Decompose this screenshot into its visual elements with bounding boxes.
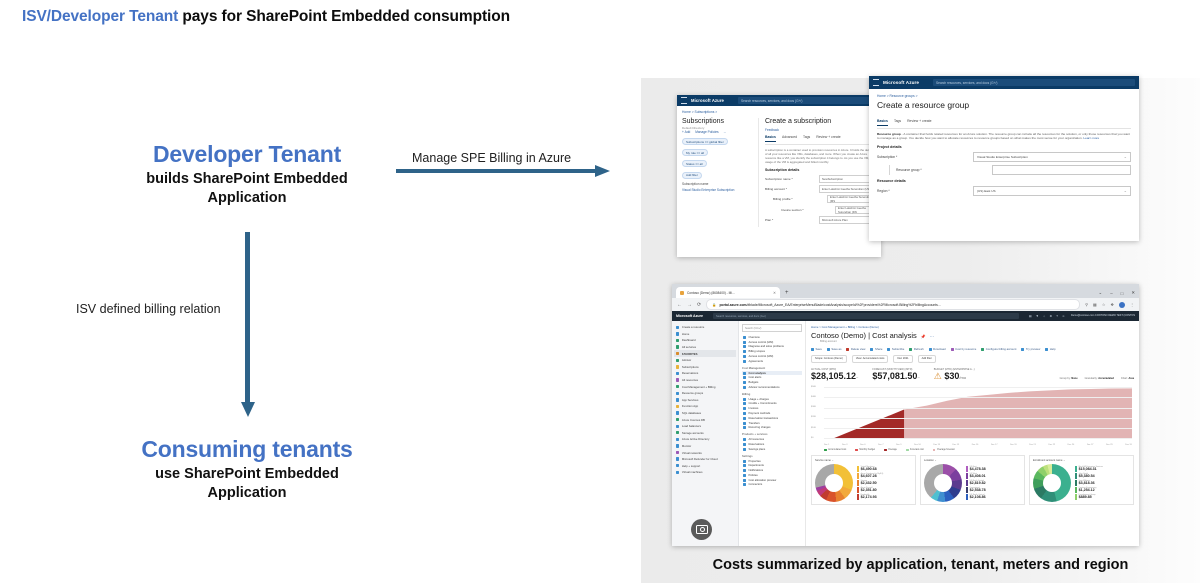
breadcrumb[interactable]: Home > Cost Management + Billing > Conto…	[811, 325, 1134, 329]
view-control[interactable]: Chart: Area	[1121, 377, 1134, 380]
node-developer-subtext-line2: Application	[47, 189, 447, 208]
field-label: Invoice section *	[781, 208, 835, 212]
menu-item-label: Invoices	[749, 407, 759, 410]
blade-body: Home > Subscriptions > Subscriptions Def…	[677, 106, 881, 231]
filter-chip[interactable]: Dec 2021	[893, 355, 912, 363]
donut-legend-item[interactable]: US West$3,408.01	[966, 473, 1021, 479]
legend-text: Azure Firewall$2,351.80	[861, 487, 877, 493]
tab-review-create[interactable]: Review + create	[907, 119, 931, 126]
nav-item-icon	[676, 444, 679, 447]
legend-text: Contoso Engineering$1,254.12	[1079, 487, 1097, 493]
menu-group-label: Billing	[742, 393, 802, 396]
kpi-amount: $30	[944, 371, 959, 381]
nav-item-label: Microsoft Defender for Cloud	[682, 457, 718, 461]
menu-item[interactable]: Connectors	[742, 483, 802, 488]
legend-swatch	[1075, 466, 1077, 472]
nav-item-icon	[676, 385, 679, 388]
favicon-icon	[680, 291, 684, 295]
donut-legend-item[interactable]: Virtual Machines$6,490.68	[857, 466, 912, 472]
nav-item-label: Help + support	[682, 464, 700, 468]
legend-swatch	[884, 449, 887, 452]
detail-title: Create a subscription	[765, 118, 876, 125]
account-info[interactable]: Demo@contoso.com CONTOSO DEMO TEST (CONT…	[1071, 314, 1135, 317]
field-label: Plan *	[765, 218, 819, 222]
legend-amount: $6,490.68	[861, 468, 877, 472]
azure-brand: Microsoft Azure	[676, 314, 703, 318]
donut-legend: Mark Hill Enterprise Services$15,084.31J…	[1075, 466, 1130, 500]
nav-item-icon	[676, 398, 679, 401]
search-placeholder: Search resources, services, and docs (G+…	[936, 81, 997, 85]
command-label: Delete view	[851, 347, 865, 351]
command-button[interactable]: Share	[870, 347, 882, 351]
field-resource-group: Resource group *	[889, 165, 1131, 175]
search-input[interactable]: Search resources, services, and docs (G+…	[933, 79, 1135, 86]
nav-item-icon	[676, 457, 679, 460]
legend-item[interactable]: Monthly budget	[855, 449, 875, 452]
command-button[interactable]: Save as	[827, 347, 842, 351]
portal-main: Create a resourceHomeDashboardAll servic…	[672, 321, 1139, 546]
blade-title: Contoso (Demo) | Cost analysis	[811, 331, 917, 340]
legend-amount: $889.85	[1079, 496, 1096, 500]
hamburger-menu-icon[interactable]	[873, 79, 879, 86]
y-tick-label: $10K	[811, 427, 816, 429]
tab-basics[interactable]: Basics	[765, 135, 776, 142]
chart-svg	[824, 386, 1132, 438]
nav-item-icon	[676, 332, 679, 335]
kpi-value: $57,081.50~	[872, 371, 919, 381]
kpi-row: ACTUAL COST (MTD) $28,105.12~ FORECAST (…	[811, 368, 1134, 382]
maximize-icon[interactable]: □	[1121, 291, 1124, 296]
legend-amount: $4,607.28	[861, 475, 884, 479]
gridline	[824, 397, 1132, 398]
azure-top-bar: Microsoft Azure Search resources, servic…	[869, 76, 1139, 89]
nav-item[interactable]: Subscriptions	[674, 364, 736, 371]
nav-item-icon	[676, 464, 679, 467]
more-icon[interactable]: ⋯	[930, 334, 934, 339]
menu-item-icon	[743, 469, 746, 472]
menu-item-icon	[743, 345, 746, 348]
menu-item-label: Overview	[749, 336, 760, 339]
browser-tab[interactable]: Contoso (Demo) (8608400) - Mi... ✕	[676, 287, 780, 298]
legend-swatch	[966, 473, 968, 479]
kpi-budget: BUDGET (MTD) (ENTERPRISE A...) ⚠ $30/mo	[934, 368, 975, 382]
nav-item[interactable]: Create a resource	[674, 324, 736, 331]
notifications-icon[interactable]: ☼	[1043, 314, 1046, 318]
manage-policies-button[interactable]: Manage Policies	[695, 130, 718, 134]
tab-tags[interactable]: Tags	[803, 135, 810, 142]
nav-item[interactable]: Dashboard	[674, 337, 736, 344]
nav-item[interactable]: Azure Active Directory	[674, 436, 736, 443]
donut-title[interactable]: Service name ⌄	[815, 459, 912, 462]
nav-item[interactable]: Function App	[674, 403, 736, 410]
menu-item-icon	[743, 360, 746, 363]
legend-swatch	[857, 480, 859, 486]
accumulated-cost-area-chart: $50K$40K$30K$20K$10K$0 Dec 1Dec 3Dec 6De…	[811, 386, 1134, 448]
legend-item[interactable]: Forecast cost	[906, 449, 924, 452]
nav-item[interactable]: All services	[674, 344, 736, 351]
extensions-icon[interactable]: ❖	[1110, 302, 1114, 307]
nav-item[interactable]: Home	[674, 331, 736, 338]
donut-legend-item[interactable]: Bandwidth$2,174.93	[857, 494, 912, 500]
browser-omnibox-bar: ← → ⟳ 🔒 portal.azure.com/#blade/Microsof…	[672, 298, 1139, 311]
nav-item[interactable]: Azure Cosmos DB	[674, 416, 736, 423]
filter-chip[interactable]: View: Accumulated costs	[852, 355, 889, 363]
nav-item-icon	[676, 411, 679, 414]
command-label: Help	[1050, 347, 1056, 351]
legend-amount: $2,351.80	[861, 489, 877, 493]
tab-tags[interactable]: Tags	[894, 119, 901, 126]
nav-item-label: App Services	[682, 398, 698, 402]
x-tick-label: Dec 21	[1029, 444, 1036, 446]
menu-item-icon	[743, 460, 746, 463]
legend-text: US South Central$2,108.86	[970, 494, 986, 500]
donut-legend-item[interactable]: Unassigned$2,538.78	[966, 487, 1021, 493]
node-consuming-tenants: Consuming tenants use SharePoint Embedde…	[47, 437, 447, 503]
donut-card: Service name ⌄Virtual Machines$6,490.68A…	[811, 455, 916, 505]
menu-item-label: Usage + charges	[749, 398, 769, 401]
x-tick-label: Dec 15	[953, 444, 960, 446]
donut-title[interactable]: Enrollment account name ⌄	[1033, 459, 1130, 462]
menu-item-label: Policies	[749, 474, 758, 477]
nav-item-label: Load balancers	[682, 424, 701, 428]
command-button[interactable]: Subscribe	[887, 347, 904, 351]
address-bar-url: portal.azure.com/#blade/Microsoft_Azure_…	[719, 303, 940, 307]
nav-item-label: SQL databases	[682, 411, 701, 415]
view-control-value: Accumulated	[1098, 377, 1114, 380]
donut-legend-item[interactable]: US East$4,478.38	[966, 466, 1021, 472]
legend-item[interactable]: Overage	[884, 449, 897, 452]
close-window-icon[interactable]: ✕	[1131, 290, 1135, 296]
browser-toolbar-icons: ⚲ ▦ ☆ ❖ ⋮	[1085, 302, 1134, 308]
legend-text: US North Central$2,819.82	[970, 480, 986, 486]
donut-title[interactable]: Location ⌄	[924, 459, 1021, 462]
field-label: Region *	[877, 189, 973, 193]
nav-item[interactable]: Virtual machines	[674, 469, 736, 476]
node-developer-subtext-line1: builds SharePoint Embedded	[47, 170, 447, 189]
back-icon[interactable]: ←	[677, 302, 682, 308]
field-region: Region * (US) East US ⌄	[877, 186, 1131, 196]
donut-legend-item[interactable]: John Smith$5,380.54	[1075, 473, 1130, 479]
command-label: Refresh	[914, 347, 924, 351]
hamburger-menu-icon[interactable]	[681, 97, 687, 104]
command-icon	[887, 348, 890, 351]
legend-swatch	[906, 449, 909, 452]
filter-chip[interactable]: Add filter	[918, 355, 936, 363]
donut-legend-item[interactable]: Mark Hill Enterprise Services$15,084.31	[1075, 466, 1130, 472]
nav-item-icon	[676, 345, 679, 348]
arrow-head	[595, 165, 610, 177]
command-button[interactable]: Download	[929, 347, 946, 351]
filter-chip[interactable]: Scope: Contoso (Demo)	[811, 355, 847, 363]
legend-swatch	[966, 494, 968, 500]
add-filter-button[interactable]: Add filter	[682, 172, 702, 179]
donut-legend-item[interactable]: US South Central$2,108.86	[966, 494, 1021, 500]
nav-item[interactable]: Storage accounts	[674, 430, 736, 437]
legend-text: Bandwidth$2,174.93	[861, 494, 877, 500]
menu-item-label: Billing scopes	[749, 350, 765, 353]
plan-select[interactable]: Microsoft Azure Plan	[819, 216, 876, 224]
node-consuming-subtext-line2: Application	[47, 484, 447, 503]
blade-description: Resource group - A container that holds …	[877, 132, 1131, 141]
view-control[interactable]: Granularity: Accumulated	[1085, 377, 1114, 380]
nav-item[interactable]: Reservations	[674, 370, 736, 377]
donut-legend-item[interactable]: Contoso Engineering$1,254.12	[1075, 487, 1130, 493]
menu-item-label: Agreements	[749, 360, 764, 363]
menu-item[interactable]: Recurring charges	[742, 426, 802, 431]
collections-icon[interactable]: ▦	[1093, 302, 1097, 307]
favorite-star-icon[interactable]: ☆	[1102, 302, 1106, 307]
gridline	[824, 438, 1132, 439]
list-item-subscription[interactable]: Visual Studio Enterprise Subscription	[682, 188, 754, 192]
node-developer-tenant: Developer Tenant builds SharePoint Embed…	[47, 142, 447, 208]
search-icon[interactable]: ⚲	[1085, 302, 1088, 307]
menu-item-icon	[743, 412, 746, 415]
filter-icon[interactable]: ▼	[1036, 314, 1039, 318]
search-input[interactable]: Search resources, services, and docs (G+…	[738, 97, 877, 104]
browser-tab-strip: Contoso (Demo) (8608400) - Mi... ✕ + ⌄ –…	[672, 284, 1139, 298]
command-bar: + Add Manage Policies ...	[682, 130, 754, 134]
command-button[interactable]: Configure billing account	[981, 347, 1016, 351]
command-button[interactable]: Cost by resource	[951, 347, 977, 351]
nav-item-icon	[676, 359, 679, 362]
command-label: Download	[933, 347, 945, 351]
view-control[interactable]: Group by: None	[1060, 377, 1078, 380]
command-button[interactable]: Refresh	[909, 347, 923, 351]
nav-item-label: Reservations	[682, 371, 698, 375]
legend-label: Forecast cost	[910, 449, 924, 451]
new-tab-button[interactable]: +	[785, 290, 789, 296]
learn-more-link[interactable]: Learn more	[1083, 136, 1099, 140]
menu-item[interactable]: Savings plans	[742, 447, 802, 452]
legend-text: Storage$2,432.50	[861, 480, 877, 486]
cloud-shell-icon[interactable]: ▤	[1029, 314, 1032, 318]
close-icon[interactable]: ✕	[773, 291, 776, 295]
command-icon	[846, 348, 849, 351]
menu-item-label: Advisor recommendations	[749, 386, 780, 389]
more-menu-icon[interactable]: ⋮	[1130, 302, 1134, 307]
x-tick-label: Dec 9	[896, 444, 901, 446]
donut-legend-item[interactable]: US North Central$2,819.82	[966, 480, 1021, 486]
breadcrumb[interactable]: Home > Subscriptions >	[682, 110, 876, 114]
command-button[interactable]: Save	[811, 347, 822, 351]
menu-item[interactable]: Agreements	[742, 359, 802, 364]
legend-amount: $2,432.50	[861, 482, 877, 486]
reload-icon[interactable]: ⟳	[697, 302, 701, 308]
filter-subscriptions[interactable]: Subscriptions == global filter	[682, 138, 728, 145]
legend-text: Unassigned$2,538.78	[970, 487, 986, 493]
nav-item-label: Azure Cosmos DB	[682, 418, 705, 422]
command-label: Subscribe	[892, 347, 904, 351]
browser-tab-title: Contoso (Demo) (8608400) - Mi...	[687, 291, 735, 295]
command-button[interactable]: Help	[1045, 347, 1055, 351]
subscription-select[interactable]: Visual Studio Enterprise Subscription ⌄	[973, 152, 1131, 162]
nav-item[interactable]: Virtual networks	[674, 449, 736, 456]
billing-account-select[interactable]: Enter Lakshmi Geetha Surendran (US	[819, 185, 876, 193]
x-tick-label: Dec 3	[842, 444, 847, 446]
tab-list: Basics Advanced Tags Review + create	[765, 135, 876, 145]
menu-item-label: Cost allocation preview	[749, 479, 777, 482]
azure-create-resource-group-screenshot: Microsoft Azure Search resources, servic…	[869, 76, 1139, 241]
chart-plot-area	[824, 386, 1132, 439]
nav-item-label: All services	[682, 345, 696, 349]
legend-text: Development Group$889.85	[1079, 494, 1096, 500]
legend-text: US West$3,408.01	[970, 473, 986, 479]
menu-item-label: Budgets	[749, 381, 759, 384]
legend-label: Monthly budget	[859, 449, 875, 451]
command-button[interactable]: Delete view	[846, 347, 865, 351]
tab-basics[interactable]: Basics	[877, 119, 888, 126]
legend-amount: $4,478.38	[970, 468, 986, 472]
nav-item[interactable]: Load balancers	[674, 423, 736, 430]
donut-chart	[815, 464, 853, 502]
legend-text: Mark Hill Enterprise Services$15,084.31	[1079, 466, 1103, 472]
nav-item[interactable]: FAVORITES	[674, 350, 736, 357]
feedback-button[interactable]: Feedback	[765, 128, 779, 132]
create-subscription-pane: Create a subscription Feedback Basics Ad…	[759, 118, 876, 227]
menu-item-icon	[743, 474, 746, 477]
donut-card: Location ⌄US East$4,478.38US West$3,408.…	[920, 455, 1025, 505]
command-label: Save	[816, 347, 822, 351]
nav-item-icon	[676, 326, 679, 329]
command-icon	[870, 348, 873, 351]
legend-swatch	[966, 480, 968, 486]
warning-icon: ⚠	[934, 371, 942, 381]
menu-item-icon	[743, 417, 746, 420]
menu-item[interactable]: Advisor recommendations	[742, 385, 802, 390]
donut-legend-item[interactable]: Azure Database for MySQL$4,607.28	[857, 473, 912, 479]
pin-icon[interactable]: 📌	[921, 334, 926, 339]
nav-item[interactable]: SQL databases	[674, 410, 736, 417]
nav-item[interactable]: Monitor	[674, 443, 736, 450]
donut-legend-item[interactable]: Storage$2,432.50	[857, 480, 912, 486]
page-title: ISV/Developer Tenant pays for SharePoint…	[22, 8, 510, 26]
legend-item[interactable]: Accumulated cost	[824, 449, 846, 452]
menu-item-icon	[743, 336, 746, 339]
minimize-icon[interactable]: –	[1110, 291, 1112, 296]
menu-item-icon	[743, 381, 746, 384]
field-label: Resource group *	[896, 168, 992, 172]
x-tick-label: Dec 29	[1106, 444, 1113, 446]
section-resource-details: Resource details	[877, 179, 1131, 183]
kpi-suffix: ~	[856, 375, 858, 380]
menu-item-icon	[743, 372, 746, 375]
field-billing-profile: Billing profile * Enter Lakshmi Geetha S…	[765, 195, 876, 203]
menu-item-icon	[743, 438, 746, 441]
command-label: Configure billing account	[986, 347, 1017, 351]
command-icon	[981, 348, 984, 351]
nav-item-icon	[676, 471, 679, 474]
nav-item[interactable]: Microsoft Defender for Cloud	[674, 456, 736, 463]
donut-legend-item[interactable]: Development Group$889.85	[1075, 494, 1130, 500]
donut-legend-item[interactable]: Azure Firewall$2,351.80	[857, 487, 912, 493]
x-tick-label: Dec 17	[991, 444, 998, 446]
legend-swatch	[1075, 494, 1077, 500]
settings-gear-icon[interactable]: ⚙	[1050, 314, 1053, 318]
nav-item[interactable]: Help + support	[674, 462, 736, 469]
menu-item-label: Reservation transactions	[749, 417, 779, 420]
tab-advanced[interactable]: Advanced	[782, 135, 797, 142]
nav-item-label: Create a resource	[682, 325, 704, 329]
nav-item-label: Virtual networks	[682, 451, 702, 455]
azure-top-bar: Microsoft Azure Search resources, servic…	[672, 311, 1139, 321]
menu-item-icon	[743, 350, 746, 353]
nav-item[interactable]: All resources	[674, 377, 736, 384]
legend-item[interactable]: Overage forecast	[933, 449, 955, 452]
filter-my-role[interactable]: My role == all	[682, 149, 708, 156]
portal-left-nav: Create a resourceHomeDashboardAll servic…	[672, 321, 739, 546]
nav-item-icon	[676, 365, 679, 368]
nav-item[interactable]: Resource groups	[674, 390, 736, 397]
menu-item-icon	[743, 402, 746, 405]
nav-item[interactable]: App Services	[674, 397, 736, 404]
nav-item[interactable]: Cost Management + Billing	[674, 383, 736, 390]
down-arrow-icon	[240, 232, 256, 422]
help-icon[interactable]: ?	[1056, 314, 1058, 318]
menu-item-label: Credits + Commitments	[749, 402, 777, 405]
azure-subscriptions-screenshot: Microsoft Azure Search resources, servic…	[677, 95, 881, 257]
url-host: portal.azure.com	[719, 303, 746, 307]
command-icon	[811, 348, 814, 351]
menu-item-icon	[743, 398, 746, 401]
feedback-icon[interactable]: ☺	[1062, 314, 1065, 318]
legend-amount: $2,174.93	[861, 496, 877, 500]
blade-search-input[interactable]: Search (Ctrl+/)	[742, 324, 802, 332]
nav-item[interactable]: Advisor	[674, 357, 736, 364]
donut-legend: Virtual Machines$6,490.68Azure Database …	[857, 466, 912, 500]
arrow-shaft	[245, 232, 250, 407]
kpi-value: $28,105.12~	[811, 371, 858, 381]
donut-charts-row: Service name ⌄Virtual Machines$6,490.68A…	[811, 455, 1134, 505]
menu-item-icon	[743, 483, 746, 486]
tab-review-create[interactable]: Review + create	[816, 135, 840, 142]
view-control-value: Area	[1128, 377, 1134, 380]
command-button[interactable]: Try preview	[1021, 347, 1040, 351]
legend-swatch	[855, 449, 858, 452]
subscription-name-input[interactable]: NewSubscription	[819, 175, 876, 183]
azure-top-bar: Microsoft Azure Search resources, servic…	[677, 95, 881, 106]
field-label: Billing profile *	[773, 197, 827, 201]
legend-text: Azure Database for MySQL$4,607.28	[861, 473, 884, 479]
window-controls: ⌄ – □ ✕	[1099, 290, 1135, 296]
lock-icon: 🔒	[712, 303, 716, 307]
x-tick-label: Dec 7	[878, 444, 883, 446]
chevron-down-icon[interactable]: ⌄	[1099, 290, 1103, 296]
donut-legend-item[interactable]: Sara Williams$3,818.36	[1075, 480, 1130, 486]
menu-item-icon	[743, 376, 746, 379]
filter-status[interactable]: Status == all	[682, 160, 707, 167]
menu-item-label: All resources	[749, 438, 765, 441]
resource-group-input[interactable]	[992, 165, 1131, 175]
breadcrumb[interactable]: Home > Resource groups >	[877, 94, 1131, 98]
menu-item-icon	[743, 448, 746, 451]
nav-item-icon	[676, 418, 679, 421]
forward-icon[interactable]: →	[687, 302, 692, 308]
series-overage-forecast-area	[904, 388, 1132, 438]
section-subscription-details: Subscription details	[765, 168, 876, 172]
donut-chart	[924, 464, 962, 502]
profile-avatar[interactable]	[1119, 302, 1125, 308]
region-select[interactable]: (US) East US ⌄	[973, 186, 1131, 196]
nav-item-icon	[676, 451, 679, 454]
search-input[interactable]: Search resources, services, and docs (G+…	[713, 313, 1019, 319]
more-button[interactable]: ...	[724, 130, 727, 134]
x-tick-label: Dec 22	[1048, 444, 1055, 446]
add-button[interactable]: + Add	[682, 130, 690, 134]
x-tick-label: Dec 16	[972, 444, 979, 446]
address-bar[interactable]: 🔒 portal.azure.com/#blade/Microsoft_Azur…	[706, 299, 1080, 310]
legend-swatch	[857, 466, 859, 472]
donut-legend: US East$4,478.38US West$3,408.01US North…	[966, 466, 1021, 500]
